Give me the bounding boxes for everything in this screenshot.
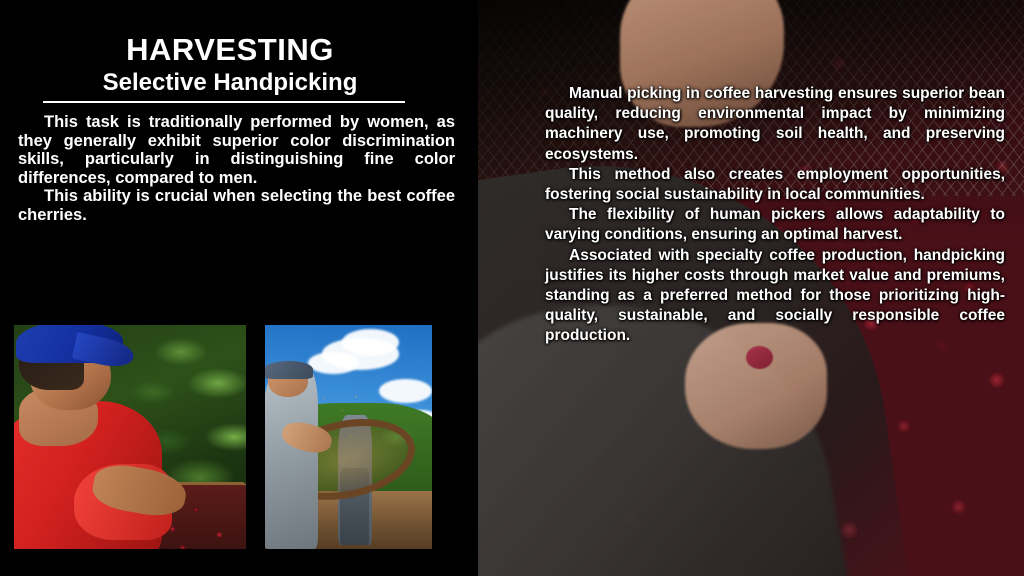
photo-woman-sorting-cherries (14, 325, 246, 549)
fingernail (746, 346, 773, 369)
page-title: HARVESTING (0, 34, 460, 67)
title-block: HARVESTING Selective Handpicking (0, 34, 460, 96)
left-body-text: This task is traditionally performed by … (18, 113, 455, 225)
photo-woman-winnowing-sieve (265, 325, 432, 549)
worker-cap (265, 361, 313, 379)
title-divider (43, 101, 405, 103)
cloud-2 (342, 329, 399, 356)
cloud-3 (308, 352, 358, 374)
right-paragraph-1: Manual picking in coffee harvesting ensu… (545, 84, 1005, 165)
right-body-text: Manual picking in coffee harvesting ensu… (545, 84, 1005, 347)
right-paragraph-4: Associated with specialty coffee product… (545, 246, 1005, 347)
left-panel: HARVESTING Selective Handpicking This ta… (0, 0, 478, 576)
left-paragraph-1: This task is traditionally performed by … (18, 113, 455, 187)
page-subtitle: Selective Handpicking (0, 69, 460, 97)
slide: HARVESTING Selective Handpicking This ta… (0, 0, 1024, 576)
left-paragraph-2: This ability is crucial when selecting t… (18, 187, 455, 224)
right-paragraph-2: This method also creates employment oppo… (545, 165, 1005, 205)
right-paragraph-3: The flexibility of human pickers allows … (545, 205, 1005, 245)
